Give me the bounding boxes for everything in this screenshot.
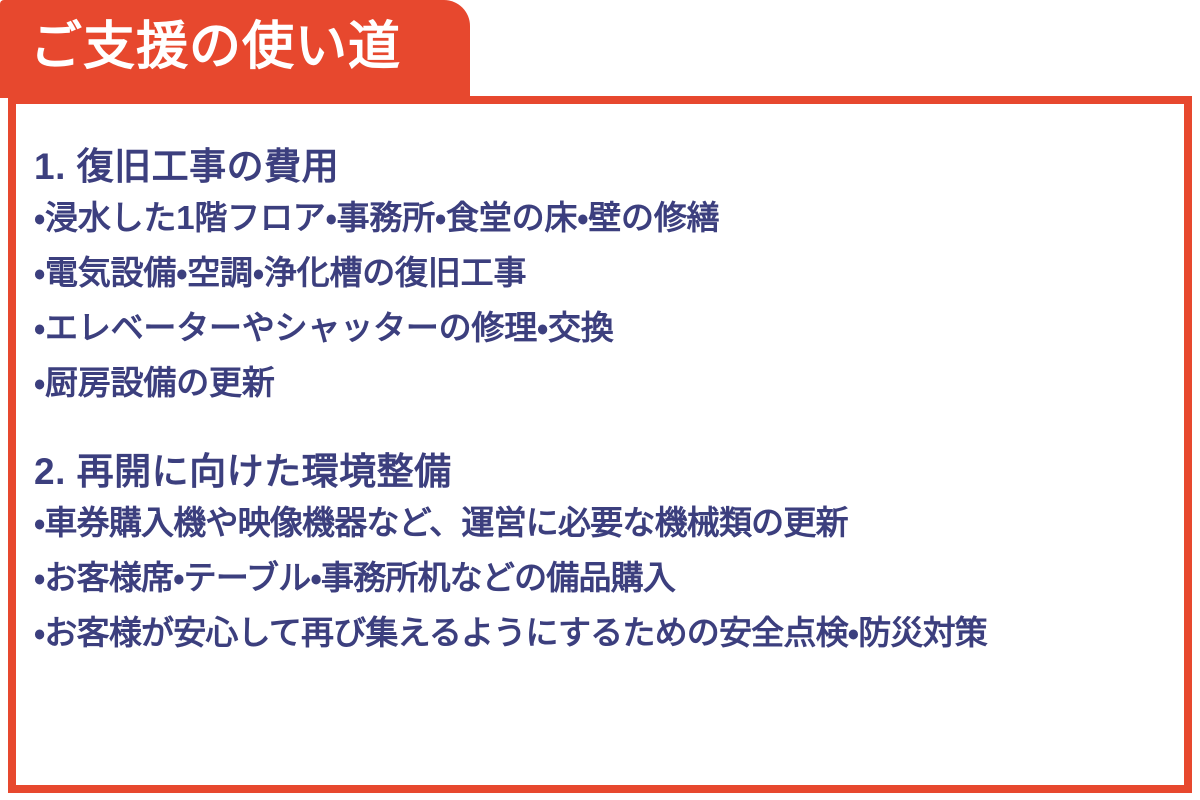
support-usage-poster: ご支援の使い道 1. 復旧工事の費用 ・浸水した1階フロア・事務所・食堂の床・壁…: [0, 0, 1200, 800]
list-item: ・浸水した1階フロア・事務所・食堂の床・壁の修繕: [34, 201, 1190, 234]
list-item: ・車券購入機や映像機器など、運営に必要な機械類の更新: [34, 506, 1190, 539]
section-1-list: ・浸水した1階フロア・事務所・食堂の床・壁の修繕 ・電気設備・空調・浄化槽の復旧…: [34, 201, 1190, 399]
page-title: ご支援の使い道: [30, 21, 401, 73]
list-item: ・お客様が安心して再び集えるようにするための安全点検・防災対策: [34, 616, 1190, 649]
section-1-heading: 1. 復旧工事の費用: [34, 148, 1190, 185]
list-item: ・厨房設備の更新: [34, 366, 1190, 399]
content-body: 1. 復旧工事の費用 ・浸水した1階フロア・事務所・食堂の床・壁の修繕 ・電気設…: [0, 96, 1200, 793]
list-item: ・エレベーターやシャッターの修理・交換: [34, 311, 1190, 344]
section-reopening-preparation: 2. 再開に向けた環境整備 ・車券購入機や映像機器など、運営に必要な機械類の更新…: [34, 453, 1190, 649]
header-tab: ご支援の使い道: [0, 0, 470, 96]
list-item: ・お客様席・テーブル・事務所机などの備品購入: [34, 561, 1190, 594]
section-2-heading: 2. 再開に向けた環境整備: [34, 453, 1190, 490]
list-item: ・電気設備・空調・浄化槽の復旧工事: [34, 256, 1190, 289]
section-2-list: ・車券購入機や映像機器など、運営に必要な機械類の更新 ・お客様席・テーブル・事務…: [34, 506, 1190, 649]
section-restoration-costs: 1. 復旧工事の費用 ・浸水した1階フロア・事務所・食堂の床・壁の修繕 ・電気設…: [34, 148, 1190, 399]
